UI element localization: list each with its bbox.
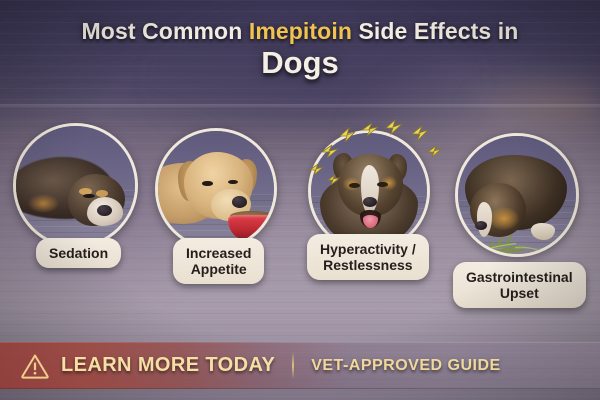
warning-triangle-icon xyxy=(20,353,50,379)
cta-divider xyxy=(292,352,294,379)
background-vignette xyxy=(0,0,600,400)
infographic-root: Most Common Imepitoin Side Effects in Do… xyxy=(0,0,600,400)
cta-primary-text[interactable]: LEARN MORE TODAY xyxy=(61,354,275,377)
cta-secondary-text[interactable]: VET-APPROVED GUIDE xyxy=(311,357,500,375)
cta-banner[interactable]: LEARN MORE TODAY VET-APPROVED GUIDE xyxy=(0,342,600,389)
